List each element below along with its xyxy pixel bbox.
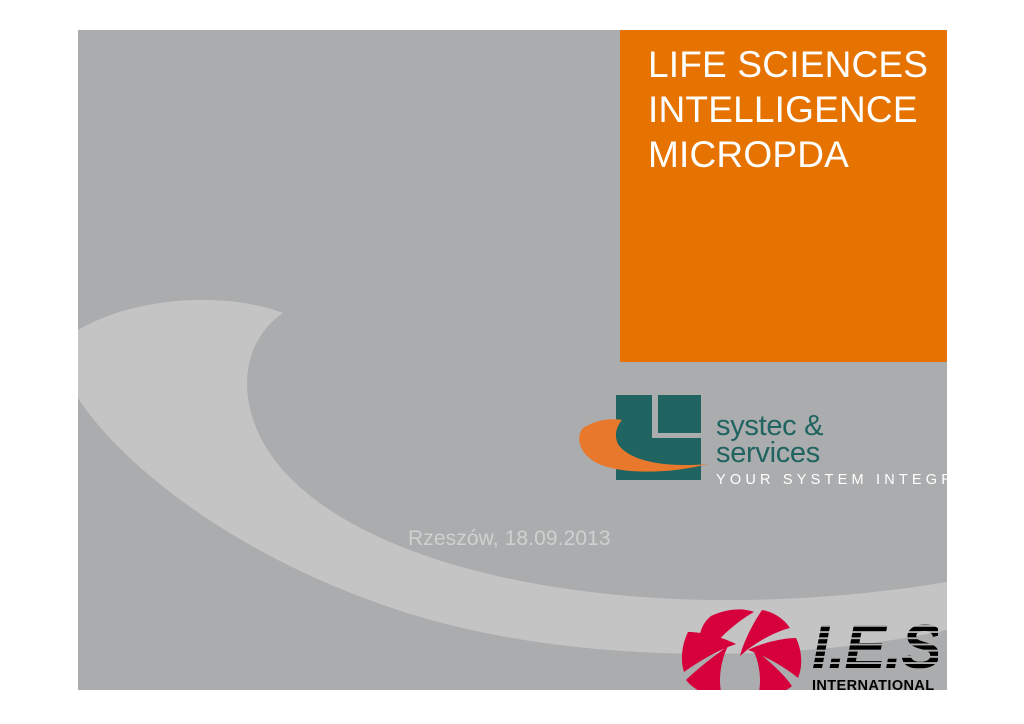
ies-pinwheel-circle-mark: [682, 609, 801, 690]
ies-subtitle: INTERNATIONAL POLSKA: [812, 678, 938, 690]
ies-international-polska-logo: I.E.S. INTERNATIONAL POLSKA: [666, 602, 938, 690]
page-title: LIFE SCIENCES INTELLIGENCE MICROPDA: [648, 42, 947, 177]
presentation-slide: LIFE SCIENCES INTELLIGENCE MICROPDA syst…: [78, 30, 947, 690]
systec-services-logo: systec & services YOUR SYSTEM INTEGRATOR: [498, 360, 938, 520]
systec-tagline: YOUR SYSTEM INTEGRATOR: [716, 472, 947, 488]
date-location-text: Rzeszów, 18.09.2013: [408, 527, 611, 551]
title-block: LIFE SCIENCES INTELLIGENCE MICROPDA: [620, 30, 947, 362]
systec-wordmark: systec & services: [716, 413, 823, 467]
systec-l-square-mark: [498, 360, 748, 485]
